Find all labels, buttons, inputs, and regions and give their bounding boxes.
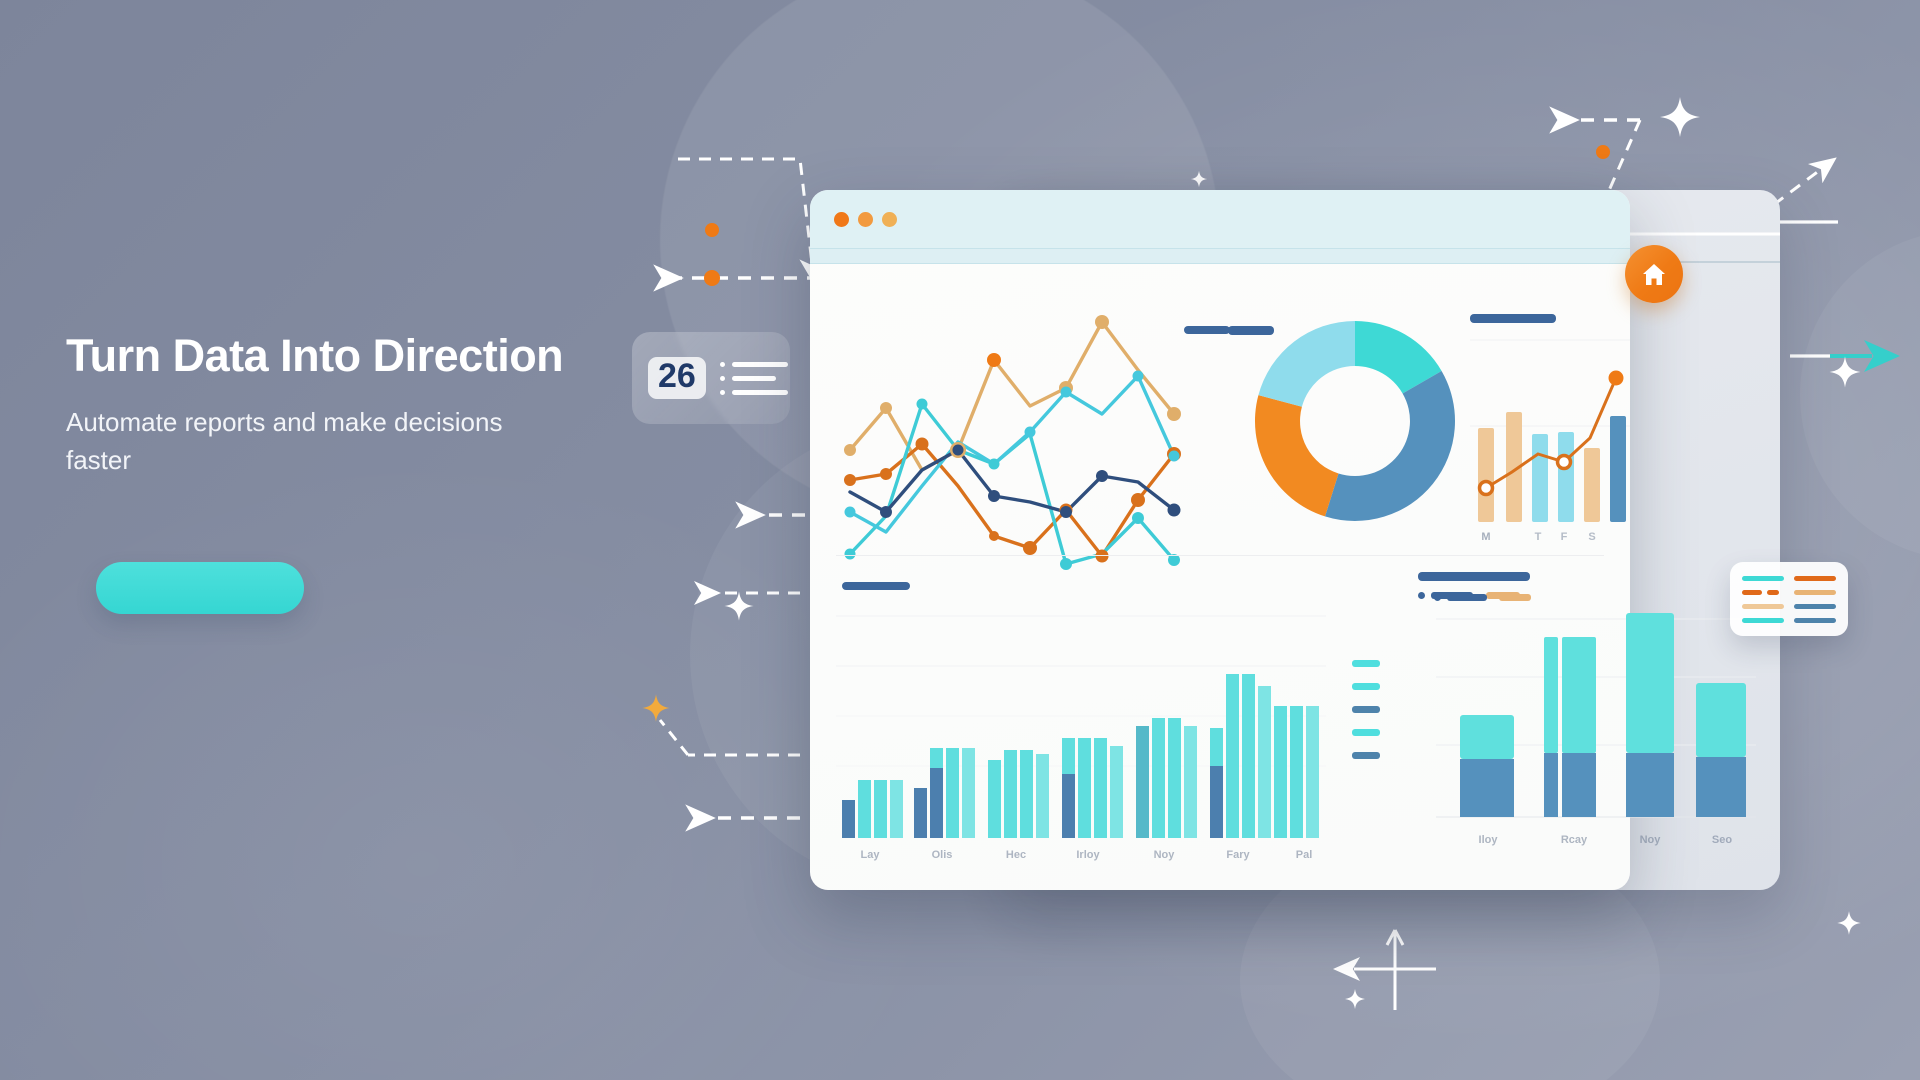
legend-chip-teal-2: [1742, 618, 1784, 623]
donut-chart-title-bar: [1228, 326, 1274, 335]
svg-text:Noy: Noy: [1154, 849, 1176, 861]
legend-chip-orange: [1794, 576, 1836, 581]
svg-text:Irloy: Irloy: [1076, 849, 1100, 861]
home-badge[interactable]: [1625, 245, 1683, 303]
dashboard-window[interactable]: M T F S L: [810, 190, 1630, 890]
hero-copy: Turn Data Into Direction Automate report…: [66, 330, 626, 479]
close-dot[interactable]: [834, 212, 849, 227]
maximize-dot[interactable]: [882, 212, 897, 227]
combo-bar-line-chart[interactable]: M T F S L: [1470, 306, 1630, 556]
grouped-bar-chart[interactable]: Lay Olis Hec Irloy Noy Fary: [836, 610, 1326, 870]
legend-chip-sand: [1742, 604, 1784, 609]
svg-text:Lay: Lay: [861, 849, 881, 861]
window-titlebar: [810, 190, 1630, 248]
stat-badge[interactable]: 26: [632, 332, 790, 424]
svg-text:S: S: [1588, 531, 1595, 543]
list-icon: [720, 362, 788, 395]
legend-chip-steel: [1794, 604, 1836, 609]
sparkle-icon-1: [1658, 95, 1702, 139]
floating-legend-card[interactable]: [1730, 562, 1848, 636]
hero-subtitle: Automate reports and make decisions fast…: [66, 404, 521, 479]
minimize-dot[interactable]: [858, 212, 873, 227]
sparkle-icon-orange: [641, 693, 671, 723]
top-panel: M T F S L: [810, 264, 1630, 594]
svg-text:Hec: Hec: [1006, 849, 1026, 861]
svg-text:T: T: [1535, 531, 1542, 543]
window-toolbar: [810, 248, 1630, 264]
right-panel-legend: [1434, 594, 1531, 601]
combo-chart-title-bar: [1470, 314, 1556, 323]
svg-text:F: F: [1561, 531, 1568, 543]
background-blob-right: [1800, 230, 1920, 560]
legend-chip-teal: [1742, 576, 1784, 581]
right-panel-title-bar: [1434, 572, 1530, 581]
legend-chip-steel-2: [1794, 618, 1836, 623]
section-divider: [836, 555, 1604, 556]
lower-section-title-bar: [842, 582, 910, 590]
home-icon: [1640, 260, 1668, 288]
sparkle-icon-4: [1836, 910, 1862, 936]
legend-chip-orange-split: [1742, 590, 1784, 595]
chart-legend-dashes: [1352, 660, 1380, 759]
svg-text:M: M: [1481, 531, 1490, 543]
donut-chart[interactable]: [1240, 306, 1470, 536]
svg-text:Olis: Olis: [932, 849, 953, 861]
stat-badge-count: 26: [648, 357, 706, 399]
window-controls[interactable]: [834, 212, 897, 227]
cta-button[interactable]: [96, 562, 304, 614]
hero-banner: Turn Data Into Direction Automate report…: [0, 0, 1920, 1080]
svg-text:Fary: Fary: [1226, 849, 1250, 861]
page-title: Turn Data Into Direction: [66, 330, 626, 382]
legend-chip-tan: [1794, 590, 1836, 595]
